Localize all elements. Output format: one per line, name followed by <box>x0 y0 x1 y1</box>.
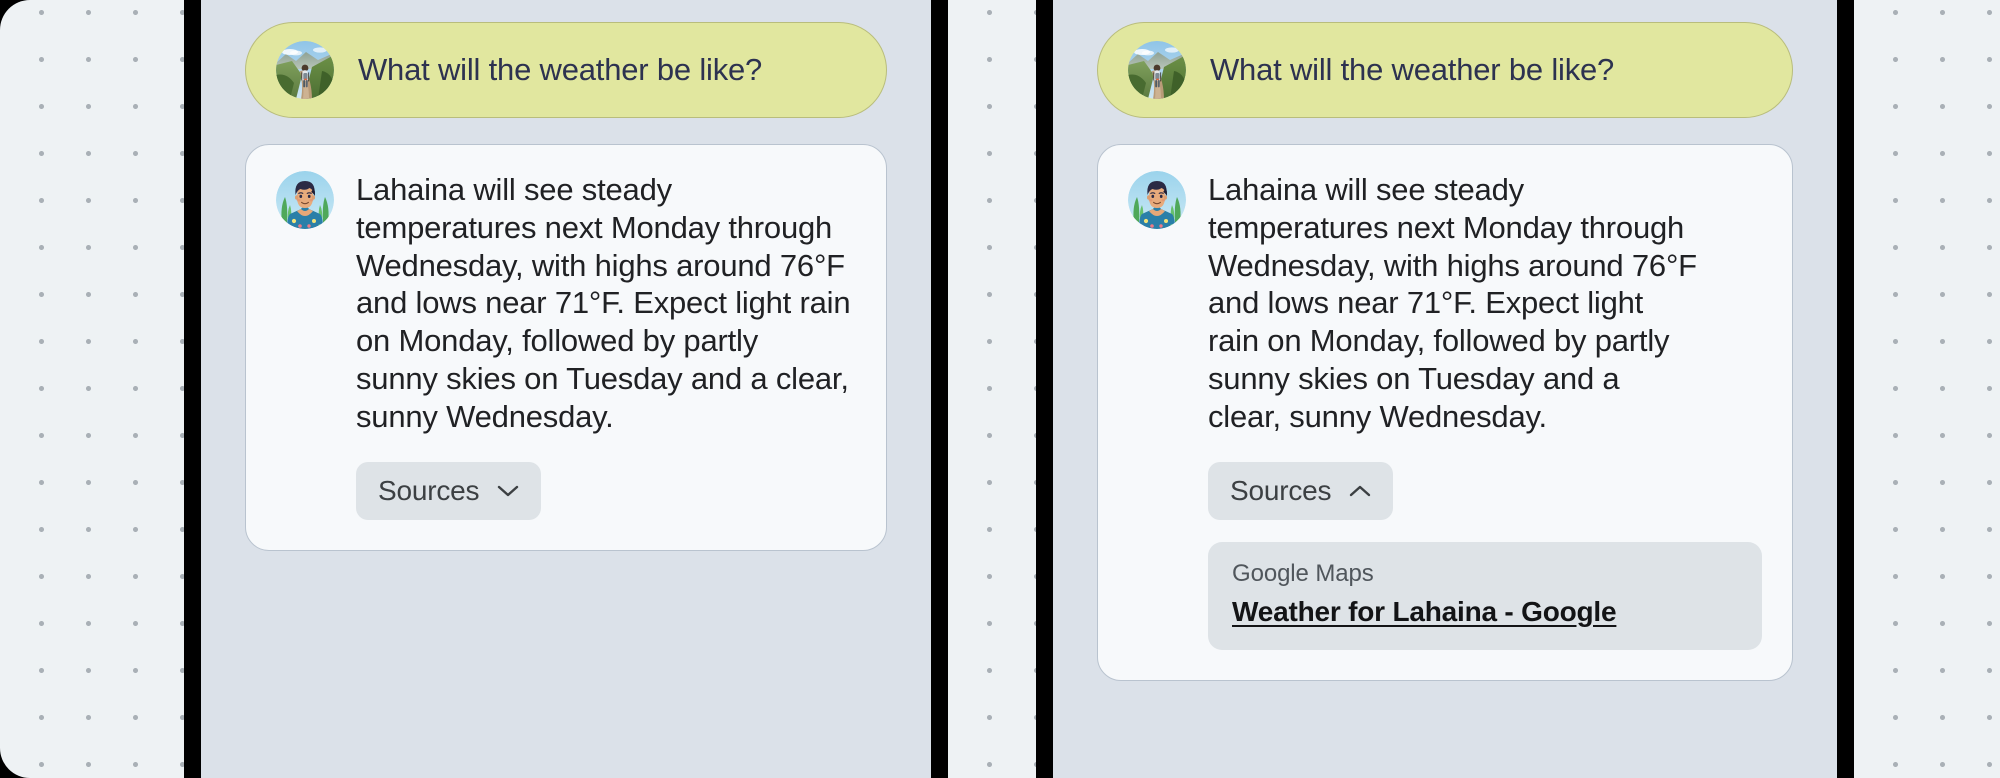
hiker-photo-avatar <box>276 41 334 99</box>
chat-panel-expanded: What will the weather be like? <box>1053 0 1837 778</box>
user-message-text: What will the weather be like? <box>358 51 762 88</box>
sources-toggle-button[interactable]: Sources <box>1208 462 1393 520</box>
user-message-bubble: What will the weather be like? <box>1097 22 1793 118</box>
assistant-message-text: Lahaina will see steady temperatures nex… <box>356 171 856 436</box>
panel-divider-middle-left <box>931 0 948 778</box>
assistant-message-card: Lahaina will see steady temperatures nex… <box>1097 144 1793 681</box>
person-hawaiian-shirt-avatar <box>1128 171 1186 229</box>
user-message-bubble: What will the weather be like? <box>245 22 887 118</box>
assistant-message-card: Lahaina will see steady temperatures nex… <box>245 144 887 551</box>
chevron-up-icon <box>1349 484 1371 498</box>
chevron-down-icon <box>497 484 519 498</box>
screenshot-stage: What will the weather be like? <box>0 0 2000 778</box>
panel-divider-right <box>1837 0 1854 778</box>
panel-divider-middle-right <box>1036 0 1053 778</box>
person-hawaiian-shirt-avatar <box>276 171 334 229</box>
assistant-message-text: Lahaina will see steady temperatures nex… <box>1208 171 1762 436</box>
citation-card[interactable]: Google Maps Weather for Lahaina - Google <box>1208 542 1762 650</box>
sources-button-label: Sources <box>1230 475 1331 507</box>
sources-button-label: Sources <box>378 475 479 507</box>
citation-source-name: Google Maps <box>1232 560 1738 588</box>
hiker-photo-avatar <box>1128 41 1186 99</box>
user-message-text: What will the weather be like? <box>1210 51 1614 88</box>
panel-divider-left <box>184 0 201 778</box>
chat-panel-collapsed: What will the weather be like? <box>201 0 931 778</box>
backdrop-dot-grid-left <box>0 0 184 778</box>
backdrop-dot-grid-right <box>1854 0 2000 778</box>
sources-toggle-button[interactable]: Sources <box>356 462 541 520</box>
citation-link[interactable]: Weather for Lahaina - Google <box>1232 596 1616 628</box>
backdrop-dot-grid-middle <box>948 0 1036 778</box>
